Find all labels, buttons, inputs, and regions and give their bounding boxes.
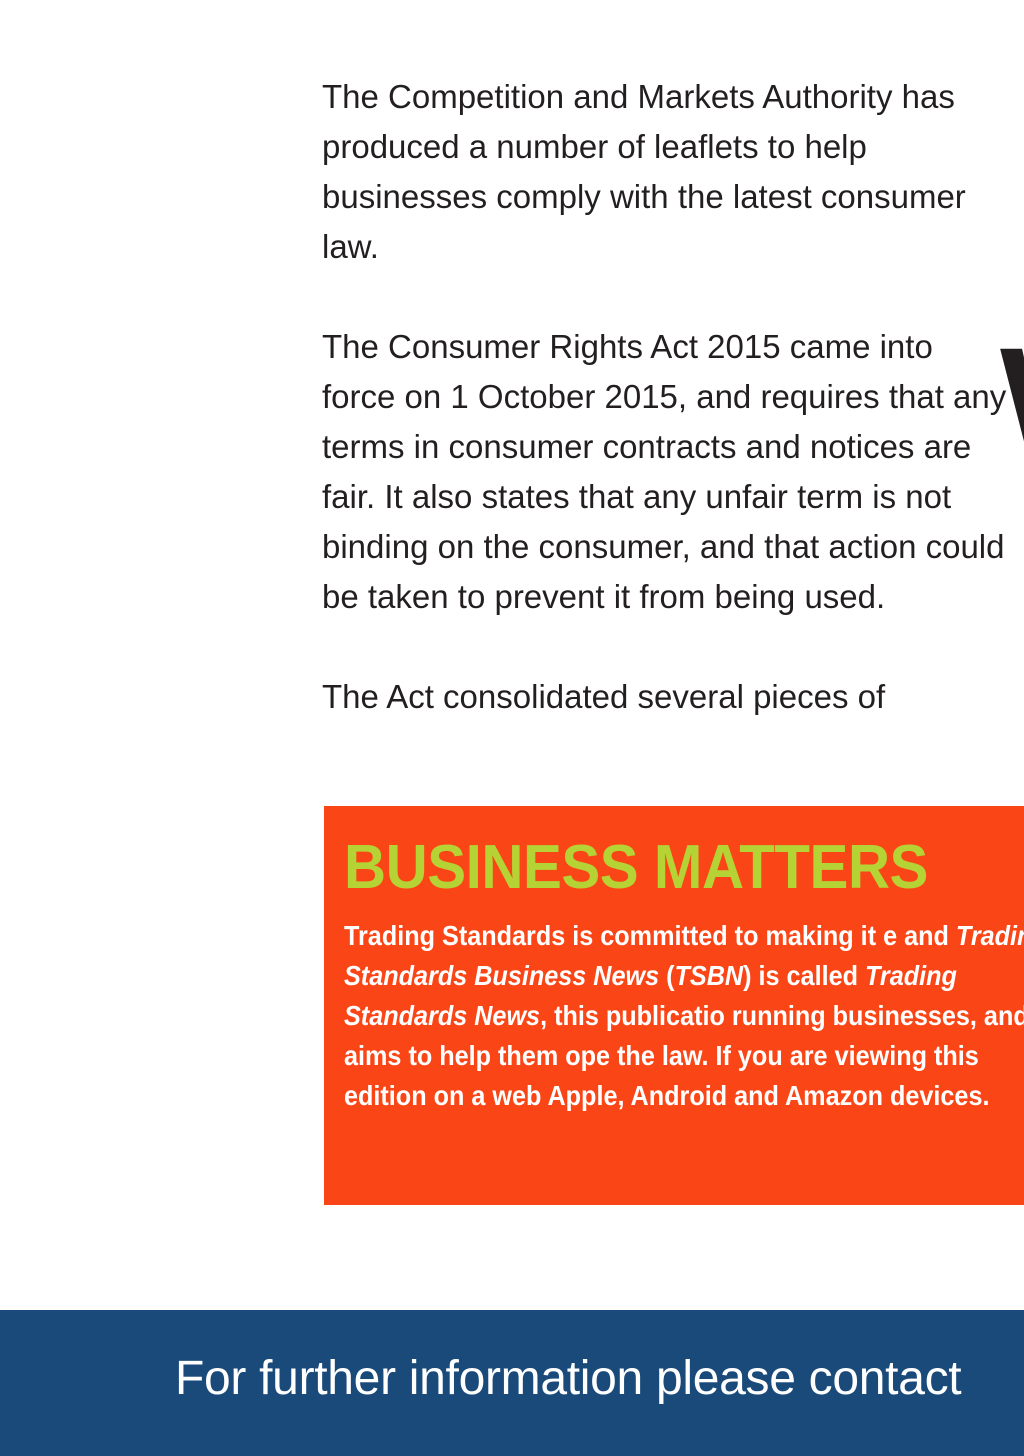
page-title: CMA and fair terms [322, 0, 1024, 12]
business-matters-body: Trading Standards is committed to making… [344, 916, 1024, 1116]
business-matters-panel: BUSINESS MATTERS Trading Standards is co… [324, 806, 1024, 1205]
article-paragraph-1: The Competition and Markets Authority ha… [322, 72, 1012, 272]
contact-band-label: For further information please contact [175, 1348, 961, 1410]
article-paragraph-3: The Act consolidated several pieces of [322, 672, 1012, 722]
article-paragraph-2: The Consumer Rights Act 2015 came into f… [322, 322, 1012, 622]
business-matters-heading: BUSINESS MATTERS [344, 832, 1021, 904]
article-body: The Competition and Markets Authority ha… [322, 72, 1012, 722]
article-page: CMA and fair terms The Competition and M… [0, 0, 1024, 1456]
clipped-decorative-glyph: W [1000, 352, 1024, 448]
contact-band: For further information please contact [0, 1310, 1024, 1456]
